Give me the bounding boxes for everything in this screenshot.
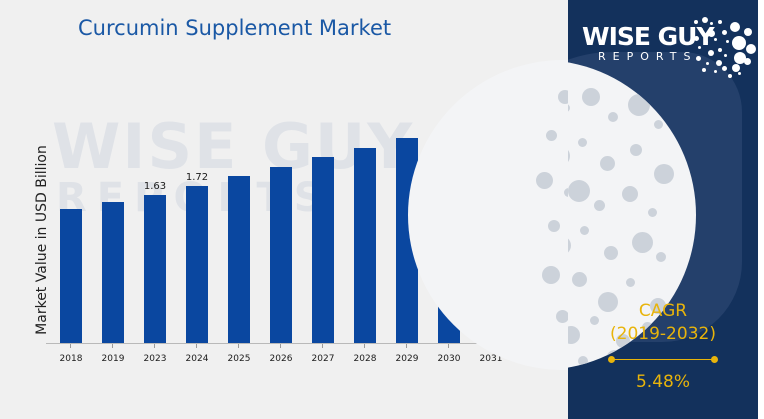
bar-slot: 2019 (92, 60, 134, 344)
x-tick (112, 344, 113, 348)
decorative-dot (622, 186, 638, 202)
decorative-dot (568, 180, 590, 202)
logo-head-dot (698, 46, 701, 49)
logo-head-dot (704, 40, 708, 44)
x-tick (280, 344, 281, 348)
decorative-dot (654, 120, 663, 129)
bar-2026 (270, 167, 292, 344)
head-silhouette-icon (692, 14, 756, 76)
decorative-dot (572, 272, 587, 287)
decorative-dot (568, 146, 570, 166)
x-tick (406, 344, 407, 348)
logo-head-dot (716, 60, 722, 66)
x-tick (70, 344, 71, 348)
brand-panel: WISE GUY REPORTS CAGR (2019-2032) 5.48% (568, 0, 758, 419)
cagr-label: CAGR (568, 300, 758, 322)
bar-slot: 2027 (302, 60, 344, 344)
cagr-callout: CAGR (2019-2032) 5.48% (568, 300, 758, 393)
bar-value-2024: 1.72 (171, 172, 223, 183)
cagr-value: 5.48% (568, 371, 758, 393)
cagr-divider-dot-left (608, 356, 615, 363)
bar-slot: 1.722024 (176, 60, 218, 344)
cagr-divider (608, 356, 718, 363)
decorative-dot (578, 138, 587, 147)
decorative-dot (654, 164, 674, 184)
decorative-dot (630, 144, 642, 156)
bar-slot: 2025 (218, 60, 260, 344)
decorative-dot (582, 88, 600, 106)
logo-head-dot (722, 66, 727, 71)
logo-head-dot (696, 56, 701, 61)
logo-head-dot (702, 17, 708, 23)
logo-head-dot (714, 38, 717, 41)
logo-head-dot (714, 70, 717, 73)
logo-head-dot (718, 48, 722, 52)
decorative-dot (594, 200, 605, 211)
logo-head-dot (694, 36, 699, 41)
decorative-dot (632, 232, 653, 253)
right-edge-strip (758, 0, 764, 419)
logo-head-dot (706, 62, 709, 65)
decorative-dot (536, 172, 553, 189)
decorative-dot (628, 94, 650, 116)
bar-slot: 2026 (260, 60, 302, 344)
decorative-dot (626, 278, 635, 287)
x-tick (154, 344, 155, 348)
logo-head-dot (700, 28, 703, 31)
logo-head-dot (744, 28, 752, 36)
bar-2018 (60, 209, 82, 344)
logo-head-dot (702, 68, 706, 72)
decorative-dot (648, 208, 657, 217)
logo-head-dot (710, 22, 713, 25)
logo-secondary-text: REPORTS (598, 50, 697, 63)
cagr-period: (2019-2032) (568, 322, 758, 346)
logo-head-dot (724, 54, 727, 57)
bar-2025 (228, 176, 250, 344)
bar-2027 (312, 157, 334, 344)
logo-head-dot (744, 58, 751, 65)
decorative-dot (656, 252, 666, 262)
decorative-dot (580, 226, 589, 235)
logo-head-dot (708, 50, 714, 56)
wiseguy-logo: WISE GUY REPORTS (582, 14, 750, 76)
bar-2019 (102, 202, 124, 344)
bar-slot: 1.632023 (134, 60, 176, 344)
decorative-dot (568, 236, 571, 255)
logo-head-dot (730, 22, 740, 32)
decorative-dot (546, 130, 557, 141)
logo-head-dot (708, 30, 715, 37)
logo-head-dot (722, 30, 727, 35)
bar-2024 (186, 186, 208, 344)
x-tick (322, 344, 323, 348)
chart-title: Curcumin Supplement Market (78, 16, 391, 40)
cagr-divider-dot-right (711, 356, 718, 363)
bar-slot: 2028 (344, 60, 386, 344)
logo-head-dot (728, 74, 732, 78)
logo-head-dot (694, 20, 698, 24)
bar-2028 (354, 148, 376, 344)
x-tick (364, 344, 365, 348)
logo-head-dot (732, 36, 746, 50)
logo-head-dot (726, 40, 729, 43)
logo-head-dot (732, 64, 740, 72)
x-tick (238, 344, 239, 348)
x-tick (448, 344, 449, 348)
x-tick (196, 344, 197, 348)
market-report-infographic: WISE GUY REPORTS Curcumin Supplement Mar… (0, 0, 764, 419)
decorative-dot (548, 220, 560, 232)
logo-head-dot (738, 72, 741, 75)
logo-head-dot (746, 44, 756, 54)
decorative-dot (542, 266, 560, 284)
bar-slot: 2018 (50, 60, 92, 344)
cagr-divider-line (612, 359, 714, 360)
bar-2023 (144, 195, 166, 344)
decorative-dot (600, 156, 615, 171)
logo-head-dot (718, 20, 722, 24)
decorative-dot (604, 246, 618, 260)
decorative-dot (608, 112, 618, 122)
decorative-dot (568, 104, 570, 112)
